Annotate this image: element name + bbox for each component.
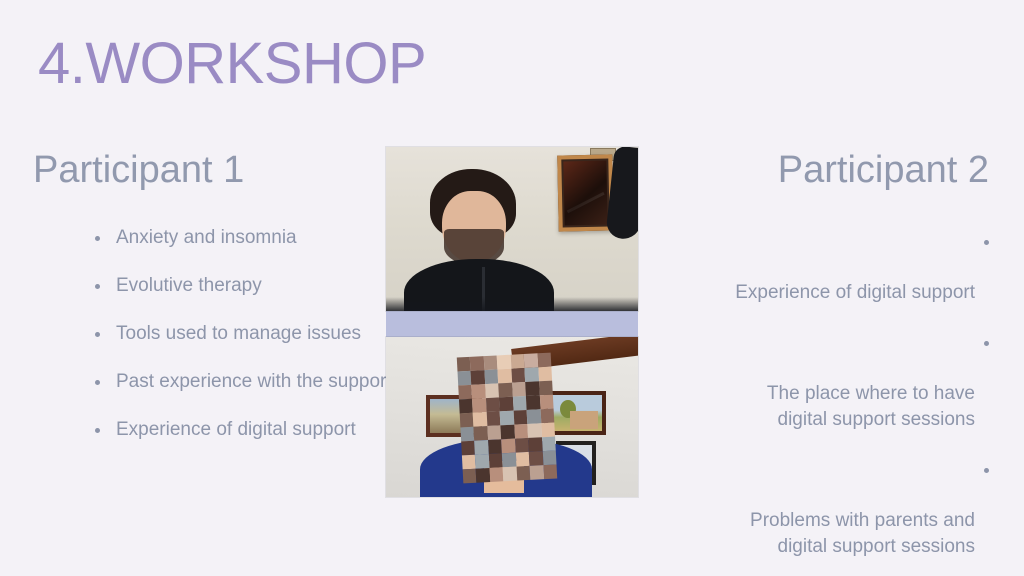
list-item: Past experience with the support <box>92 369 392 394</box>
pixel-cell <box>473 412 487 427</box>
list-item: Evolutive therapy <box>92 273 392 298</box>
participant-1-list: Anxiety and insomnia Evolutive therapy T… <box>92 225 392 442</box>
list-item-label: Problems with parents and digital suppor… <box>750 510 975 556</box>
list-item: Anxiety and insomnia <box>92 225 392 250</box>
pixel-cell <box>475 454 489 469</box>
list-item-label: Evolutive therapy <box>116 275 262 296</box>
pixel-cell <box>471 370 485 385</box>
pixel-cell <box>513 410 527 425</box>
bullet-dot-icon <box>984 240 989 245</box>
pixel-cell <box>542 437 556 452</box>
pixel-cell <box>499 397 513 412</box>
pixel-cell <box>525 367 539 382</box>
pixel-cell <box>511 368 525 383</box>
pixel-cell <box>539 381 553 396</box>
pixel-cell <box>542 450 556 465</box>
list-item: Problems with parents and digital suppor… <box>660 457 990 559</box>
pixel-cell <box>528 437 542 452</box>
pixel-cell <box>529 451 543 466</box>
pixel-cell <box>527 423 541 438</box>
list-item-label: The place where to have digital support … <box>767 383 975 429</box>
pixel-cell <box>488 439 502 454</box>
pixel-cell <box>516 452 530 467</box>
bullet-dot-icon <box>984 468 989 473</box>
pixel-cell <box>527 409 541 424</box>
video-call-stack <box>386 147 638 497</box>
bullet-dot-icon <box>95 284 100 289</box>
pixel-cell <box>484 355 498 370</box>
participant-2-list: Experience of digital support The place … <box>660 229 990 576</box>
list-item: The place where to have digital support … <box>660 330 990 432</box>
slide: 4.WORKSHOP Participant 1 Participant 2 A… <box>0 0 1024 576</box>
pixel-cell <box>512 382 526 397</box>
page-title: 4.WORKSHOP <box>38 34 426 95</box>
pixel-cell <box>540 409 554 424</box>
painting-house <box>570 411 598 429</box>
list-item-label: Experience of digital support <box>116 419 356 440</box>
pixel-cell <box>489 453 503 468</box>
pixel-cell <box>487 411 501 426</box>
pixel-cell <box>525 381 539 396</box>
list-item-label: Anxiety and insomnia <box>116 227 297 248</box>
pixel-cell <box>500 411 514 426</box>
pixel-cell <box>541 423 555 438</box>
list-item: Tools used to manage issues <box>92 321 392 346</box>
pixel-cell <box>502 453 516 468</box>
pixel-cell <box>470 356 484 371</box>
participant-2-heading: Participant 2 <box>778 150 989 192</box>
pixel-cell <box>460 413 474 428</box>
pixel-cell <box>457 357 471 372</box>
tile-shadow <box>386 297 638 311</box>
pixel-cell <box>497 355 511 370</box>
list-item-label: Past experience with the support <box>116 371 392 392</box>
pixel-cell <box>472 384 486 399</box>
pixel-cell <box>516 466 530 481</box>
pixel-cell <box>498 383 512 398</box>
pixel-cell <box>462 455 476 470</box>
list-item: Experience of digital support <box>660 229 990 305</box>
pixel-cell <box>476 468 490 483</box>
list-item: Experience of digital support <box>92 417 392 442</box>
pixel-cell <box>539 395 553 410</box>
pixel-cell <box>524 353 538 368</box>
video-separator-band <box>386 311 638 337</box>
pixel-cell <box>503 467 517 482</box>
bullet-dot-icon <box>95 428 100 433</box>
list-item-label: Tools used to manage issues <box>116 323 361 344</box>
pixel-cell <box>537 353 551 368</box>
pixel-cell <box>474 426 488 441</box>
bullet-dot-icon <box>95 236 100 241</box>
pixel-cell <box>513 396 527 411</box>
pixel-cell <box>475 440 489 455</box>
bullet-dot-icon <box>984 341 989 346</box>
framed-painting <box>557 154 614 231</box>
pixel-cell <box>486 397 500 412</box>
pixelated-face <box>457 353 557 484</box>
pixel-cell <box>515 438 529 453</box>
pixel-cell <box>484 369 498 384</box>
pixel-cell <box>489 467 503 482</box>
pixel-cell <box>485 383 499 398</box>
pixel-cell <box>510 354 524 369</box>
pixel-cell <box>461 441 475 456</box>
pixel-cell <box>501 439 515 454</box>
pixel-cell <box>501 425 515 440</box>
pixel-cell <box>543 464 557 479</box>
bullet-dot-icon <box>95 332 100 337</box>
participant-1-heading: Participant 1 <box>33 150 244 192</box>
pixel-cell <box>498 369 512 384</box>
bullet-dot-icon <box>95 380 100 385</box>
pixel-cell <box>538 367 552 382</box>
video-tile-participant-1 <box>386 147 638 311</box>
pixel-cell <box>459 399 473 414</box>
painting-highlight <box>567 192 605 214</box>
pixel-cell <box>526 395 540 410</box>
pixel-cell <box>530 465 544 480</box>
video-tile-participant-2 <box>386 337 638 497</box>
pixel-cell <box>460 427 474 442</box>
pixel-cell <box>487 425 501 440</box>
pixel-cell <box>472 398 486 413</box>
pixel-cell <box>458 385 472 400</box>
list-item-label: Experience of digital support <box>735 282 975 303</box>
pixel-cell <box>463 469 477 484</box>
pixel-cell <box>514 424 528 439</box>
pixel-cell <box>457 371 471 386</box>
